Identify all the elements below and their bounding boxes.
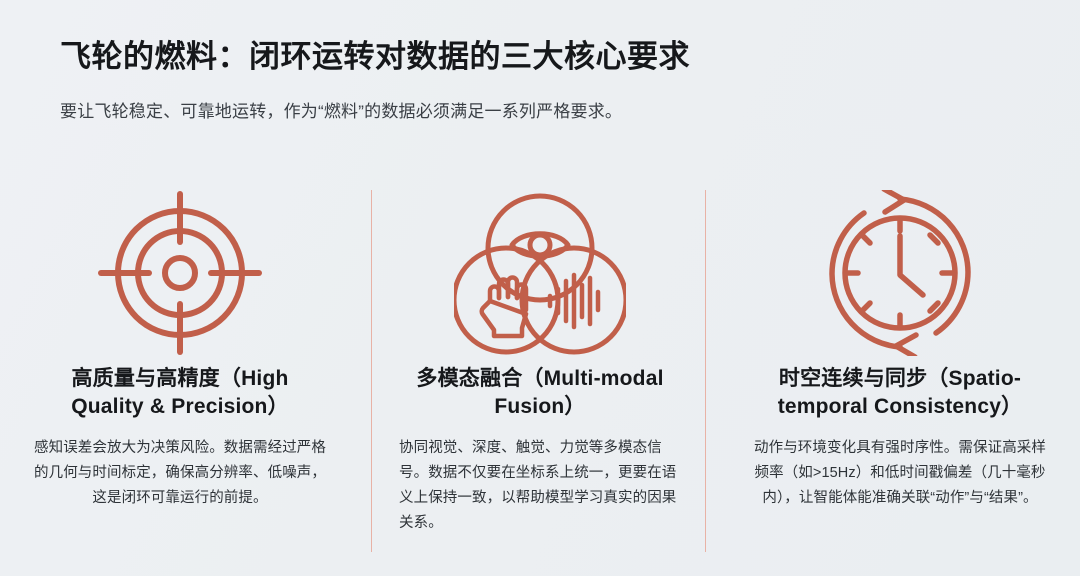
column-spatiotemporal-consistency: 时空连续与同步（Spatio-temporal Consistency） 动作与… bbox=[720, 185, 1080, 557]
column-title: 高质量与高精度（High Quality & Precision） bbox=[40, 365, 320, 420]
column-body: 感知误差会放大为决策风险。数据需经过严格的几何与时间标定，确保高分辨率、低噪声，… bbox=[34, 436, 326, 511]
column-body: 动作与环境变化具有强时序性。需保证高采样频率（如>15Hz）和低时间戳偏差（几十… bbox=[750, 436, 1050, 511]
clock-hands bbox=[900, 236, 923, 295]
target-crosshair-icon bbox=[97, 185, 263, 360]
eye-icon bbox=[512, 233, 568, 256]
arrow-head-left bbox=[896, 335, 916, 356]
page-subtitle: 要让飞轮稳定、可靠地运转，作为“燃料”的数据必须满足一系列严格要求。 bbox=[60, 99, 1020, 125]
columns-container: 高质量与高精度（High Quality & Precision） 感知误差会放… bbox=[0, 185, 1080, 557]
arrow-head-right bbox=[884, 190, 904, 212]
venn-multimodal-icon bbox=[454, 185, 626, 360]
column-body: 协同视觉、深度、触觉、力觉等多模态信号。数据不仅要在坐标系上统一，更要在语义上保… bbox=[399, 436, 681, 536]
clock-sync-icon bbox=[816, 185, 984, 360]
column-title: 多模态融合（Multi-modal Fusion） bbox=[402, 365, 678, 420]
column-high-quality-precision: 高质量与高精度（High Quality & Precision） 感知误差会放… bbox=[0, 185, 360, 557]
column-title: 时空连续与同步（Spatio-temporal Consistency） bbox=[750, 365, 1050, 420]
page-title: 飞轮的燃料：闭环运转对数据的三大核心要求 bbox=[60, 38, 1020, 77]
slide-header: 飞轮的燃料：闭环运转对数据的三大核心要求 要让飞轮稳定、可靠地运转，作为“燃料”… bbox=[0, 0, 1080, 124]
column-multimodal-fusion: 多模态融合（Multi-modal Fusion） 协同视觉、深度、触觉、力觉等… bbox=[360, 185, 720, 557]
slide-root: 飞轮的燃料：闭环运转对数据的三大核心要求 要让飞轮稳定、可靠地运转，作为“燃料”… bbox=[0, 0, 1080, 576]
